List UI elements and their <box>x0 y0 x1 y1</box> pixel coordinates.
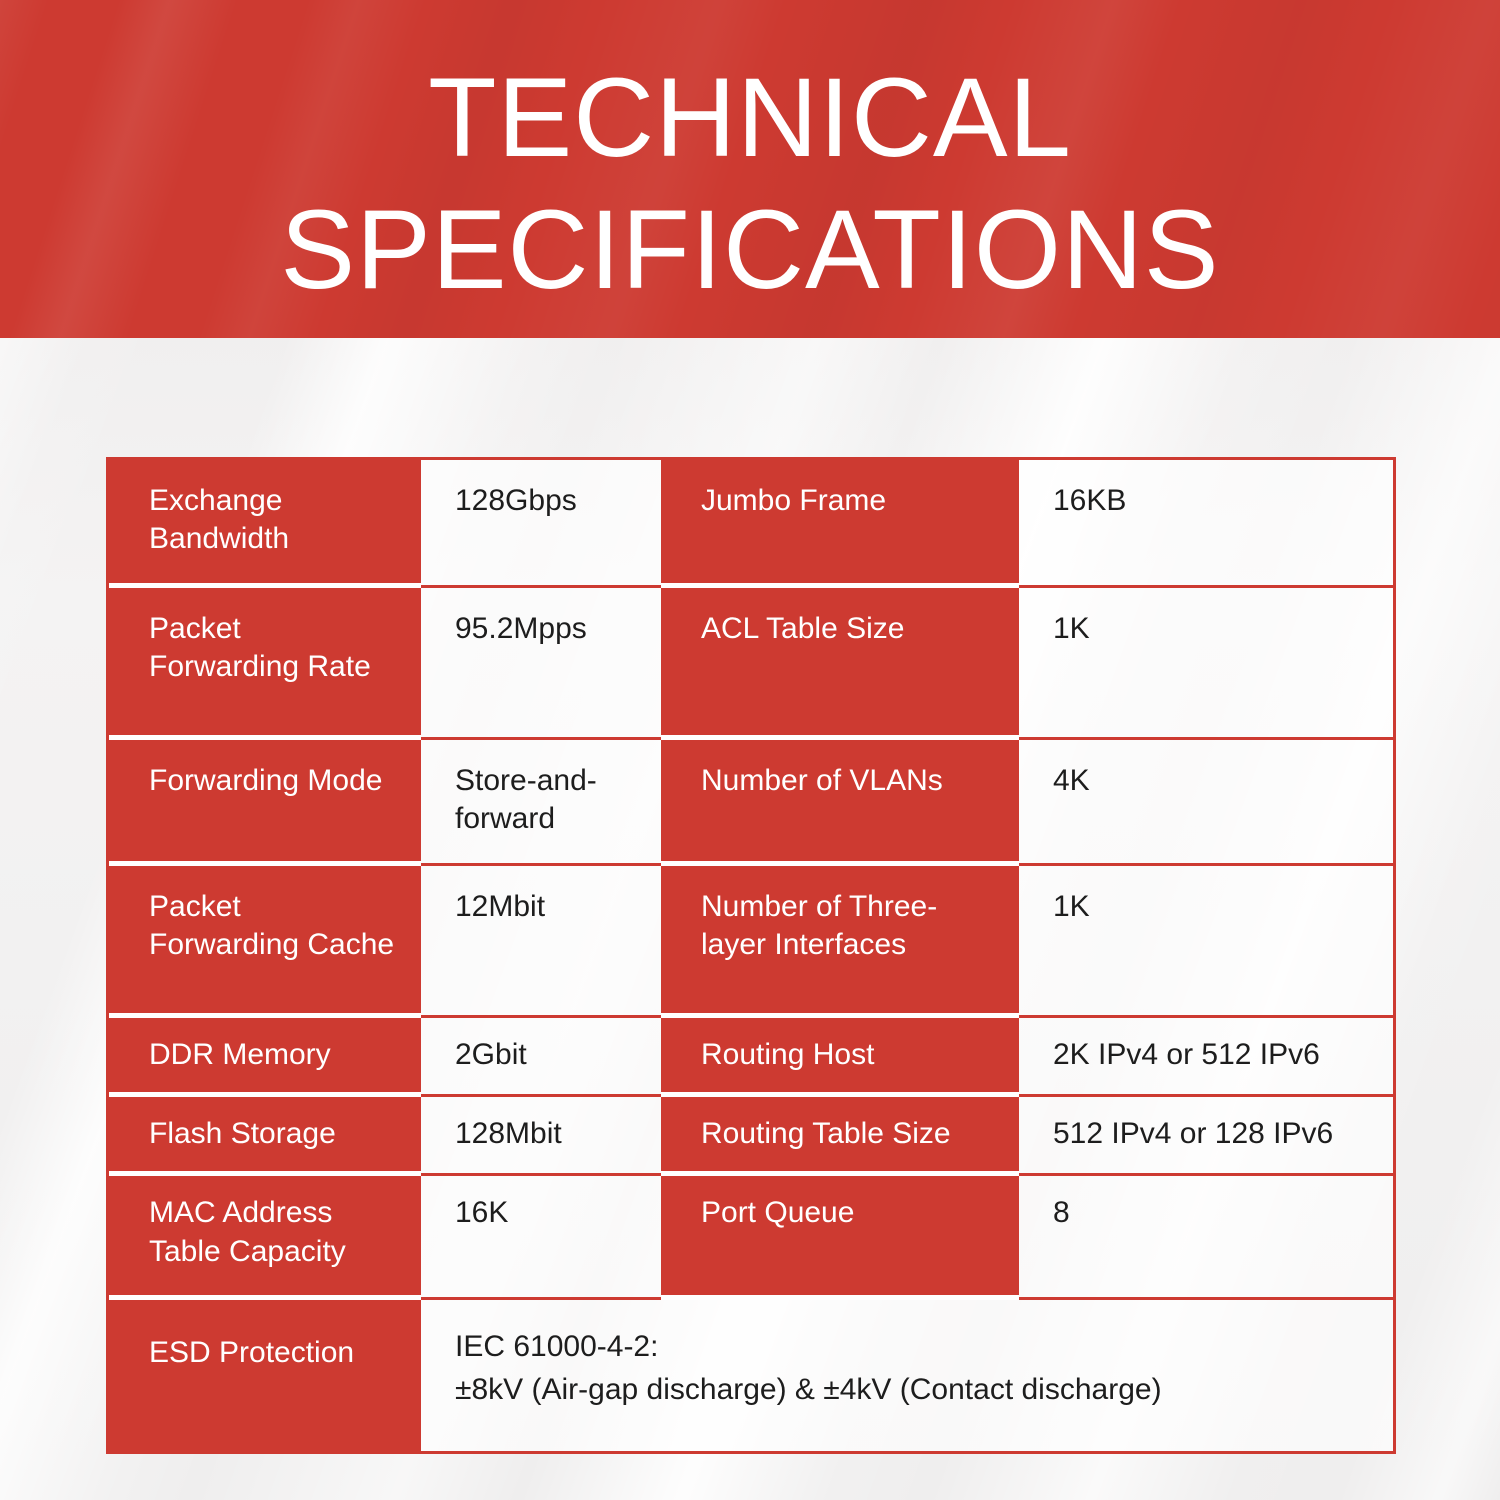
spec-value: 2K IPv4 or 512 IPv6 <box>1019 1018 1393 1097</box>
page-title: TECHNICAL SPECIFICATIONS <box>0 0 1500 316</box>
spec-label: Flash Storage <box>109 1097 421 1176</box>
specifications-table: Exchange Bandwidth 128Gbps Jumbo Frame 1… <box>106 457 1396 1454</box>
spec-label: Routing Host <box>661 1018 1019 1097</box>
spec-value: 8 <box>1019 1176 1393 1300</box>
spec-label: Forwarding Mode <box>109 740 421 866</box>
spec-label: Packet Forwarding Rate <box>109 588 421 740</box>
spec-value: 2Gbit <box>421 1018 661 1097</box>
spec-value: 16KB <box>1019 460 1393 588</box>
spec-label: Packet Forwarding Cache <box>109 866 421 1018</box>
spec-value: 128Mbit <box>421 1097 661 1176</box>
spec-label: ESD Protection <box>109 1300 421 1451</box>
table-row: Exchange Bandwidth 128Gbps Jumbo Frame 1… <box>109 460 1393 588</box>
spec-value: 4K <box>1019 740 1393 866</box>
spec-label: DDR Memory <box>109 1018 421 1097</box>
page-title-line-2: SPECIFICATIONS <box>0 184 1500 316</box>
spec-value: 16K <box>421 1176 661 1300</box>
page-title-line-1: TECHNICAL <box>428 55 1072 180</box>
spec-label: Number of VLANs <box>661 740 1019 866</box>
spec-value: 95.2Mpps <box>421 588 661 740</box>
header-banner: TECHNICAL SPECIFICATIONS <box>0 0 1500 338</box>
spec-label: Number of Three-layer Interfaces <box>661 866 1019 1018</box>
spec-label: Routing Table Size <box>661 1097 1019 1176</box>
spec-label: Jumbo Frame <box>661 460 1019 588</box>
table-row: DDR Memory 2Gbit Routing Host 2K IPv4 or… <box>109 1018 1393 1097</box>
table-row: Packet Forwarding Rate 95.2Mpps ACL Tabl… <box>109 588 1393 740</box>
spec-value: Store-and-forward <box>421 740 661 866</box>
table-row: Packet Forwarding Cache 12Mbit Number of… <box>109 866 1393 1018</box>
spec-value: 512 IPv4 or 128 IPv6 <box>1019 1097 1393 1176</box>
table-row: Flash Storage 128Mbit Routing Table Size… <box>109 1097 1393 1176</box>
table-row: MAC Address Table Capacity 16K Port Queu… <box>109 1176 1393 1300</box>
table-row-esd-protection: ESD Protection IEC 61000-4-2: ±8kV (Air-… <box>109 1300 1393 1451</box>
spec-value: 1K <box>1019 866 1393 1018</box>
table-row: Forwarding Mode Store-and-forward Number… <box>109 740 1393 866</box>
spec-label: MAC Address Table Capacity <box>109 1176 421 1300</box>
spec-value: IEC 61000-4-2: ±8kV (Air-gap discharge) … <box>421 1300 1393 1451</box>
spec-value: 1K <box>1019 588 1393 740</box>
spec-value: 12Mbit <box>421 866 661 1018</box>
spec-value: 128Gbps <box>421 460 661 588</box>
spec-label: Port Queue <box>661 1176 1019 1300</box>
spec-label: Exchange Bandwidth <box>109 460 421 588</box>
spec-label: ACL Table Size <box>661 588 1019 740</box>
